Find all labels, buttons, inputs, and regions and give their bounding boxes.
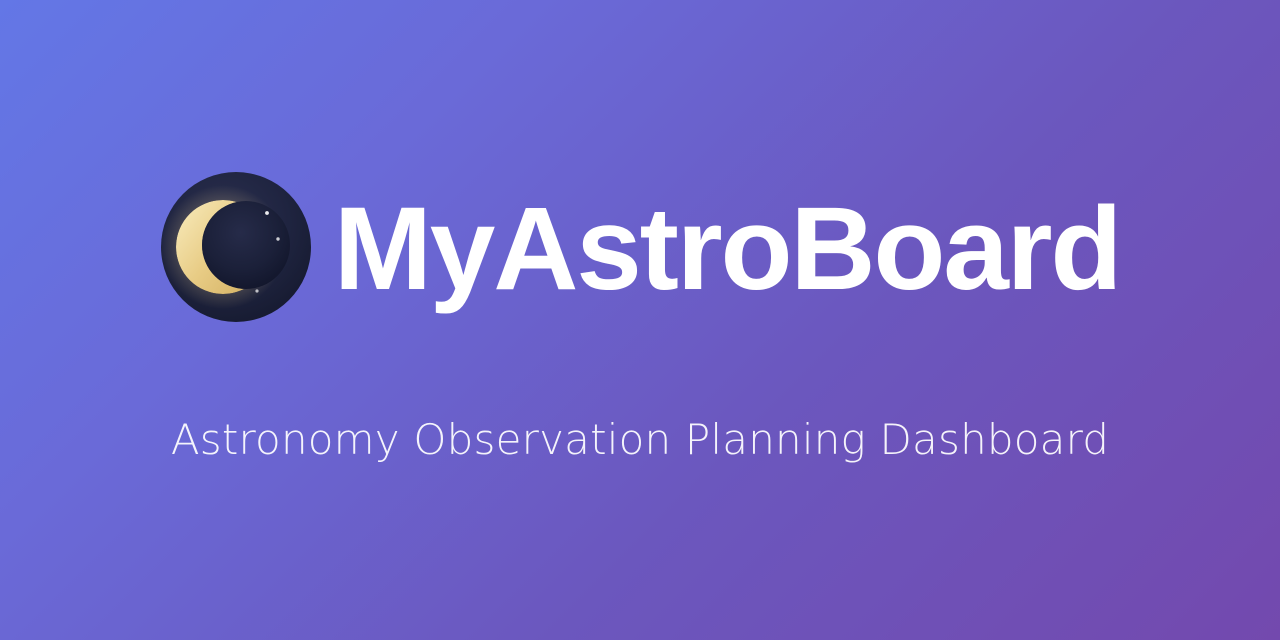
brand-lockup: MyAstroBoard [160,171,1121,323]
app-title: MyAstroBoard [334,190,1121,308]
crescent-moon-night-sky-icon [160,171,312,323]
hero-banner: MyAstroBoard Astronomy Observation Plann… [0,0,1280,640]
app-subtitle: Astronomy Observation Planning Dashboard [171,419,1109,461]
app-logo [160,171,312,323]
